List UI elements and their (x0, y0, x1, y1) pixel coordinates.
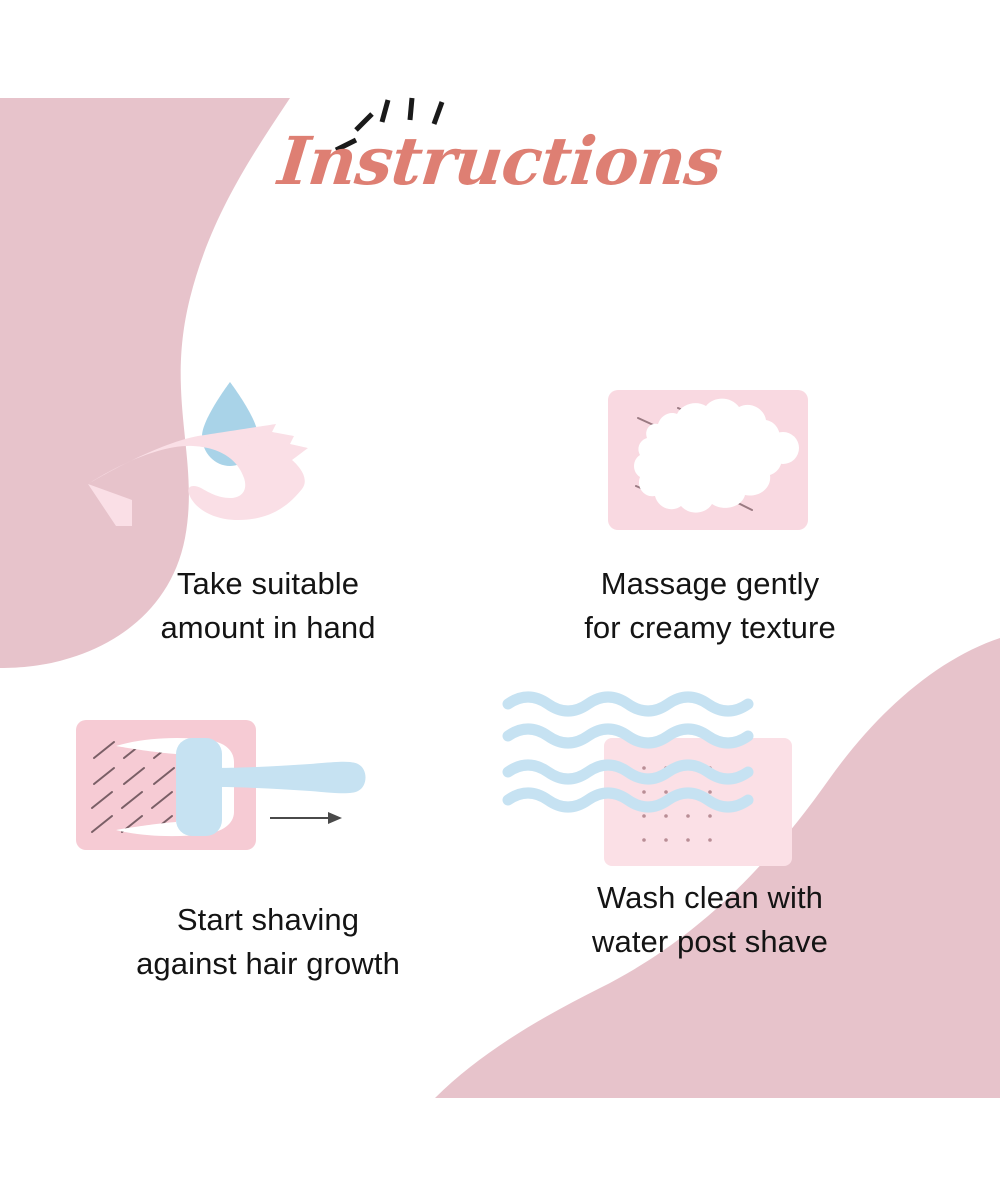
instruction-steps-grid: Take suitable amount in hand (0, 270, 1000, 970)
water-waves-rinse-skin-icon (500, 688, 920, 888)
step-1-label: Take suitable amount in hand (58, 562, 478, 651)
foam-lather-on-skin-icon (500, 374, 920, 544)
step-4-label: Wash clean with water post shave (500, 876, 920, 965)
instruction-step-take-amount: Take suitable amount in hand (58, 374, 478, 651)
step-3-artwork (58, 710, 478, 880)
razor-shaving-skin-icon (58, 710, 478, 880)
step-1-artwork (58, 374, 478, 544)
page-title: Instructions (0, 128, 1000, 194)
step-2-line-1: Massage gently (500, 562, 920, 606)
step-4-line-2: water post shave (500, 920, 920, 964)
step-1-line-2: amount in hand (58, 606, 478, 650)
instructions-poster: Instructions Take suitable amount in han… (0, 0, 1000, 1200)
step-4-artwork (500, 688, 920, 858)
instruction-step-shave: Start shaving against hair growth (58, 710, 478, 987)
instruction-step-wash: Wash clean with water post shave (500, 688, 920, 965)
step-2-artwork (500, 374, 920, 544)
palm-base-shape (88, 484, 132, 526)
step-2-label: Massage gently for creamy texture (500, 562, 920, 651)
instruction-step-massage: Massage gently for creamy texture (500, 374, 920, 651)
step-1-line-1: Take suitable (58, 562, 478, 606)
direction-arrow-head (328, 812, 342, 824)
razor-head-shape (176, 738, 222, 836)
step-3-line-2: against hair growth (58, 942, 478, 986)
step-2-line-2: for creamy texture (500, 606, 920, 650)
step-3-label: Start shaving against hair growth (58, 898, 478, 987)
step-3-line-1: Start shaving (58, 898, 478, 942)
hand-with-water-drop-icon (58, 374, 478, 544)
